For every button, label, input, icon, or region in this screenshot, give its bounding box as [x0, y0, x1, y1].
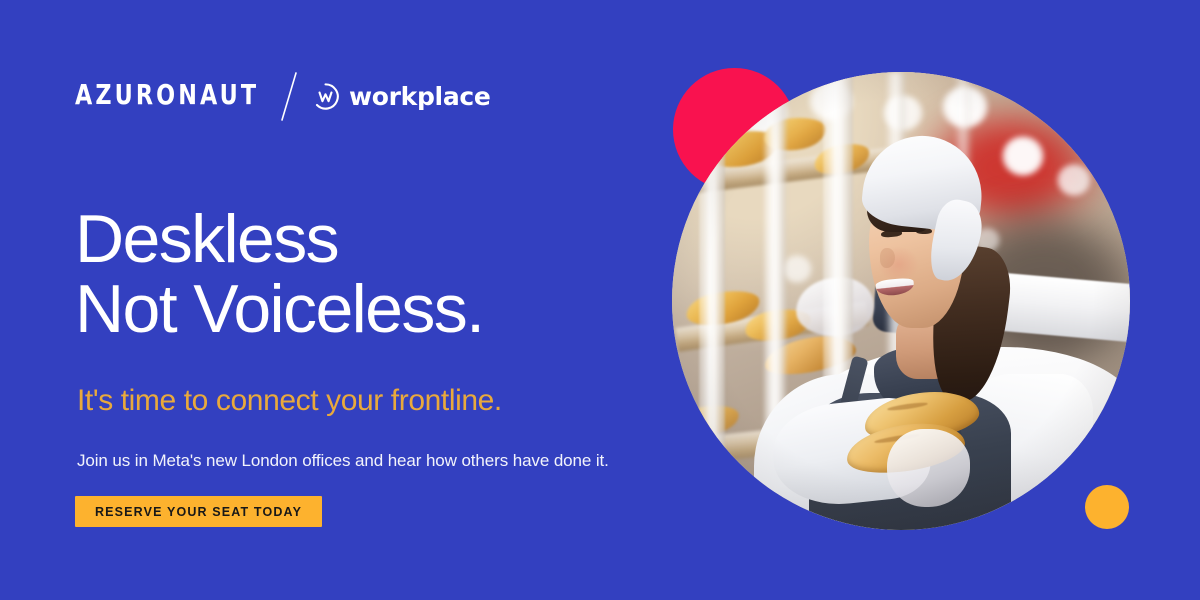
- workplace-w-circle-icon: [311, 82, 340, 111]
- body-copy: Join us in Meta's new London offices and…: [77, 450, 609, 472]
- subheadline: It's time to connect your frontline.: [77, 383, 502, 419]
- azuronaut-logo: AZURONAUT: [75, 82, 259, 109]
- brand-logo-lockup: AZURONAUT workplace: [75, 68, 491, 124]
- workplace-logo: workplace: [311, 82, 491, 111]
- headline-line-2: Not Voiceless.: [75, 274, 483, 344]
- yellow-circle-decoration: [1085, 485, 1129, 529]
- workplace-wordmark: workplace: [349, 84, 491, 109]
- event-promo-banner: AZURONAUT workplace Deskless Not Voicele…: [0, 0, 1200, 600]
- headline-line-1: Deskless: [75, 204, 483, 274]
- logo-divider-slash-icon: [265, 68, 311, 124]
- bakery-worker-photo: [672, 72, 1130, 530]
- headline: Deskless Not Voiceless.: [75, 204, 483, 344]
- reserve-seat-button[interactable]: RESERVE YOUR SEAT TODAY: [75, 496, 322, 527]
- content-column: AZURONAUT workplace Deskless Not Voicele…: [75, 0, 675, 600]
